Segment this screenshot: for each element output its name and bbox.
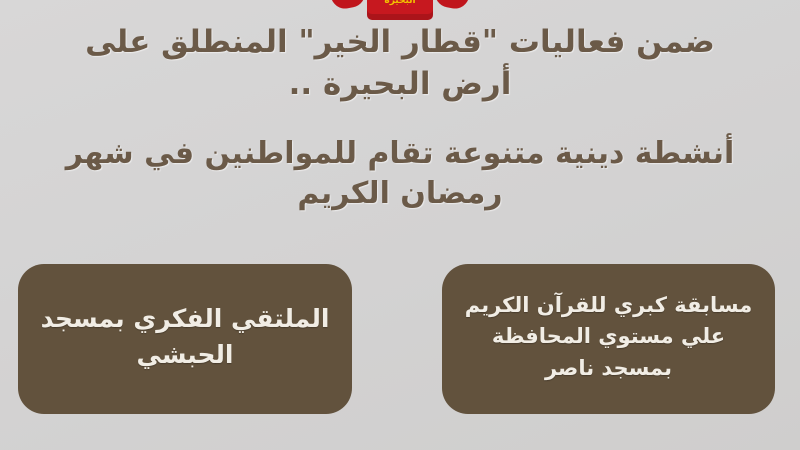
- beheira-logo-badge-icon: البحيرة: [367, 0, 433, 20]
- headline-primary: ضمن فعاليات "قطار الخير" المنطلق على أرض…: [55, 22, 745, 106]
- logo-container: البحيرة: [325, 0, 475, 20]
- event-card-right[interactable]: مسابقة كبري للقرآن الكريم علي مستوي المح…: [442, 264, 775, 414]
- logo-wing-right-icon: [433, 0, 471, 11]
- event-card-right-text: مسابقة كبري للقرآن الكريم علي مستوي المح…: [456, 290, 761, 385]
- headline-secondary: أنشطة دينية متنوعة تقام للمواطنين في شهر…: [50, 134, 750, 215]
- logo-label: البحيرة: [384, 0, 415, 20]
- cards-row: الملتقي الفكري بمسجد الحبشي مسابقة كبري …: [0, 264, 800, 450]
- event-card-left-text: الملتقي الفكري بمسجد الحبشي: [32, 301, 338, 374]
- headings-block: ضمن فعاليات "قطار الخير" المنطلق على أرض…: [0, 22, 800, 215]
- logo-wing-left-icon: [329, 0, 367, 11]
- infographic-canvas: البحيرة ضمن فعاليات "قطار الخير" المنطلق…: [0, 0, 800, 450]
- event-card-left[interactable]: الملتقي الفكري بمسجد الحبشي: [18, 264, 352, 414]
